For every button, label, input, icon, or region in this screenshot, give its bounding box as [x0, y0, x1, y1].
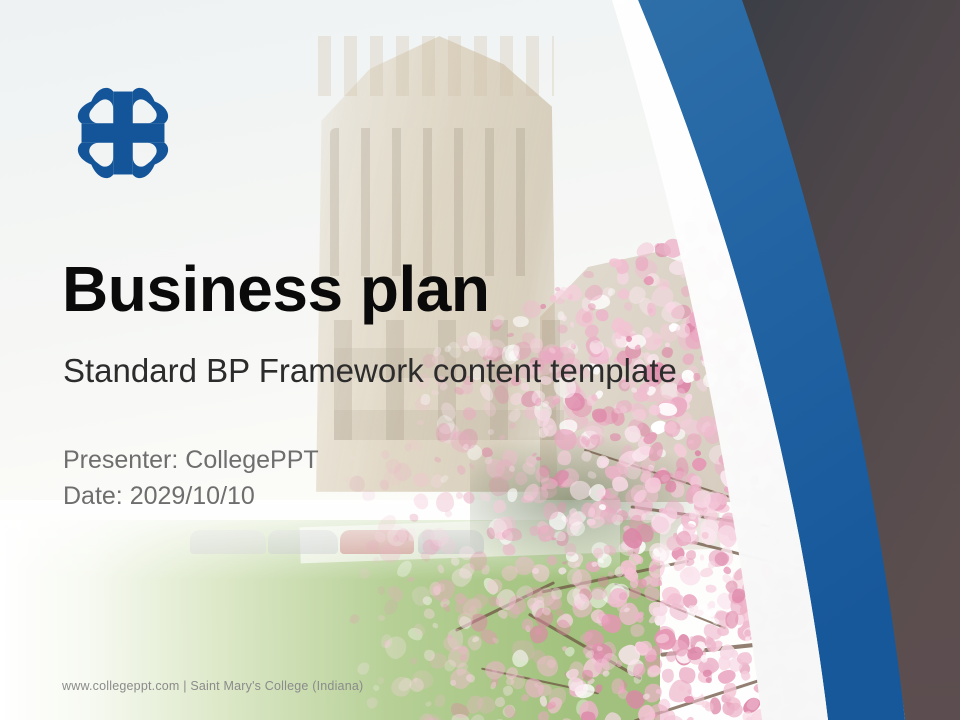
magnolia-petal — [595, 309, 609, 322]
magnolia-petal — [705, 584, 717, 594]
magnolia-petal — [482, 657, 509, 684]
magnolia-petal — [482, 400, 498, 419]
magnolia-petal — [356, 660, 372, 677]
magnolia-petal — [783, 684, 806, 705]
date-line: Date: 2029/10/10 — [63, 479, 319, 515]
magnolia-petal — [372, 684, 380, 692]
magnolia-petal — [546, 554, 558, 566]
presenter-line: Presenter: CollegePPT — [63, 443, 319, 479]
magnolia-petal — [804, 485, 818, 498]
magnolia-petal — [377, 614, 386, 622]
magnolia-petal — [792, 422, 802, 431]
magnolia-petal — [569, 321, 574, 327]
magnolia-petal — [377, 585, 385, 595]
magnolia-petal — [739, 231, 750, 240]
magnolia-petal — [413, 473, 429, 488]
magnolia-petal — [809, 693, 814, 700]
magnolia-petal — [503, 685, 513, 695]
magnolia-petal — [791, 627, 799, 636]
magnolia-petal — [559, 313, 568, 322]
magnolia-petal — [747, 242, 753, 249]
magnolia-petal — [417, 420, 425, 425]
magnolia-petal — [507, 333, 514, 338]
magnolia-petal — [450, 555, 462, 566]
magnolia-petal — [462, 491, 476, 505]
magnolia-petal — [684, 696, 694, 703]
magnolia-petal — [558, 566, 568, 575]
magnolia-petal — [661, 668, 674, 683]
magnolia-petal — [422, 607, 437, 622]
magnolia-petal — [700, 555, 704, 561]
magnolia-petal — [536, 655, 559, 678]
magnolia-petal — [434, 693, 448, 709]
magnolia-petal — [531, 486, 549, 504]
magnolia-petal — [675, 530, 691, 546]
magnolia-petal — [408, 577, 415, 582]
magnolia-petal — [684, 716, 694, 720]
magnolia-petal — [658, 579, 663, 586]
magnolia-petal — [592, 561, 598, 566]
magnolia-petal — [794, 479, 801, 484]
magnolia-petal — [676, 388, 685, 397]
magnolia-petal — [467, 462, 474, 470]
magnolia-petal — [743, 541, 756, 554]
magnolia-petal — [479, 491, 493, 504]
magnolia-petal — [742, 711, 753, 720]
slide-subtitle: Standard BP Framework content template — [63, 352, 677, 390]
magnolia-petal — [693, 372, 701, 380]
magnolia-petal — [425, 701, 431, 706]
magnolia-petal — [680, 285, 693, 299]
magnolia-petal — [697, 245, 707, 254]
magnolia-petal — [555, 448, 574, 468]
magnolia-petal — [366, 540, 379, 552]
magnolia-petal — [498, 433, 506, 440]
magnolia-petal — [680, 270, 686, 277]
magnolia-petal — [555, 286, 560, 290]
magnolia-petal — [748, 261, 769, 280]
magnolia-petal — [582, 270, 594, 279]
magnolia-petal — [495, 697, 506, 708]
magnolia-petal — [388, 672, 416, 700]
presentation-slide: Business plan Standard BP Framework cont… — [0, 0, 960, 720]
magnolia-petal — [797, 453, 804, 462]
magnolia-petal — [612, 476, 628, 491]
magnolia-petal — [738, 263, 744, 270]
magnolia-petal — [745, 637, 750, 642]
magnolia-petal — [709, 324, 716, 330]
magnolia-petal — [433, 456, 442, 464]
magnolia-petal — [557, 323, 569, 334]
magnolia-petal — [461, 405, 478, 421]
magnolia-petal — [556, 716, 576, 720]
magnolia-petal — [601, 709, 624, 720]
magnolia-petal — [436, 563, 444, 574]
magnolia-petal — [794, 541, 800, 547]
magnolia-petal — [759, 249, 777, 262]
magnolia-petal — [749, 283, 761, 299]
magnolia-petal — [620, 559, 636, 575]
magnolia-petal — [506, 406, 523, 423]
magnolia-petal — [456, 464, 467, 477]
magnolia-petal — [747, 251, 759, 263]
magnolia-petal — [409, 657, 418, 666]
magnolia-petal — [754, 362, 761, 369]
magnolia-petal — [718, 655, 731, 671]
magnolia-petal — [730, 276, 743, 291]
magnolia-petal — [736, 652, 752, 666]
magnolia-petal — [508, 422, 516, 429]
magnolia-petal — [676, 324, 690, 338]
magnolia-petal — [716, 626, 729, 637]
magnolia-petal — [456, 491, 463, 498]
magnolia-petal — [690, 455, 708, 473]
magnolia-petal — [435, 491, 454, 512]
magnolia-petal — [778, 466, 792, 484]
magnolia-petal — [442, 603, 452, 614]
magnolia-petal — [348, 454, 356, 462]
magnolia-petal — [348, 612, 361, 626]
magnolia-petal — [432, 622, 439, 629]
college-cross-logo — [62, 72, 184, 194]
magnolia-petal — [609, 432, 621, 441]
slide-footer: www.collegeppt.com | Saint Mary's Colleg… — [62, 679, 363, 693]
magnolia-petal — [629, 623, 646, 639]
magnolia-petal — [409, 513, 420, 523]
magnolia-petal — [367, 696, 379, 708]
slide-title: Business plan — [62, 256, 489, 323]
magnolia-petal — [357, 566, 372, 581]
magnolia-petal — [412, 493, 430, 512]
slide-meta: Presenter: CollegePPT Date: 2029/10/10 — [63, 443, 319, 514]
magnolia-petal — [487, 429, 495, 436]
background-tower-parapet — [318, 36, 554, 96]
magnolia-petal — [491, 498, 507, 514]
magnolia-petal — [586, 470, 597, 480]
magnolia-petal — [787, 359, 802, 369]
